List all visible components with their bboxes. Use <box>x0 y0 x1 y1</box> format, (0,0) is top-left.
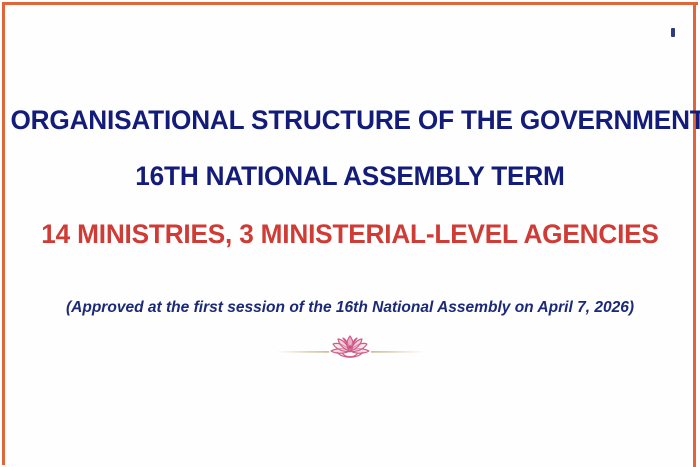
frame-rule-right <box>693 2 696 467</box>
frame-rule-left <box>2 2 5 465</box>
corner-mark-icon <box>671 28 675 37</box>
page-title-primary: ORGANISATIONAL STRUCTURE OF THE GOVERNME… <box>11 103 690 137</box>
title-slide: ORGANISATIONAL STRUCTURE OF THE GOVERNME… <box>0 0 700 467</box>
lotus-divider-icon <box>275 330 425 364</box>
frame-rule-top <box>2 2 698 5</box>
approval-note: (Approved at the first session of the 16… <box>11 297 690 319</box>
page-title-highlight: 14 MINISTRIES, 3 MINISTERIAL-LEVEL AGENC… <box>11 217 690 251</box>
page-title-secondary: 16TH NATIONAL ASSEMBLY TERM <box>11 159 690 193</box>
